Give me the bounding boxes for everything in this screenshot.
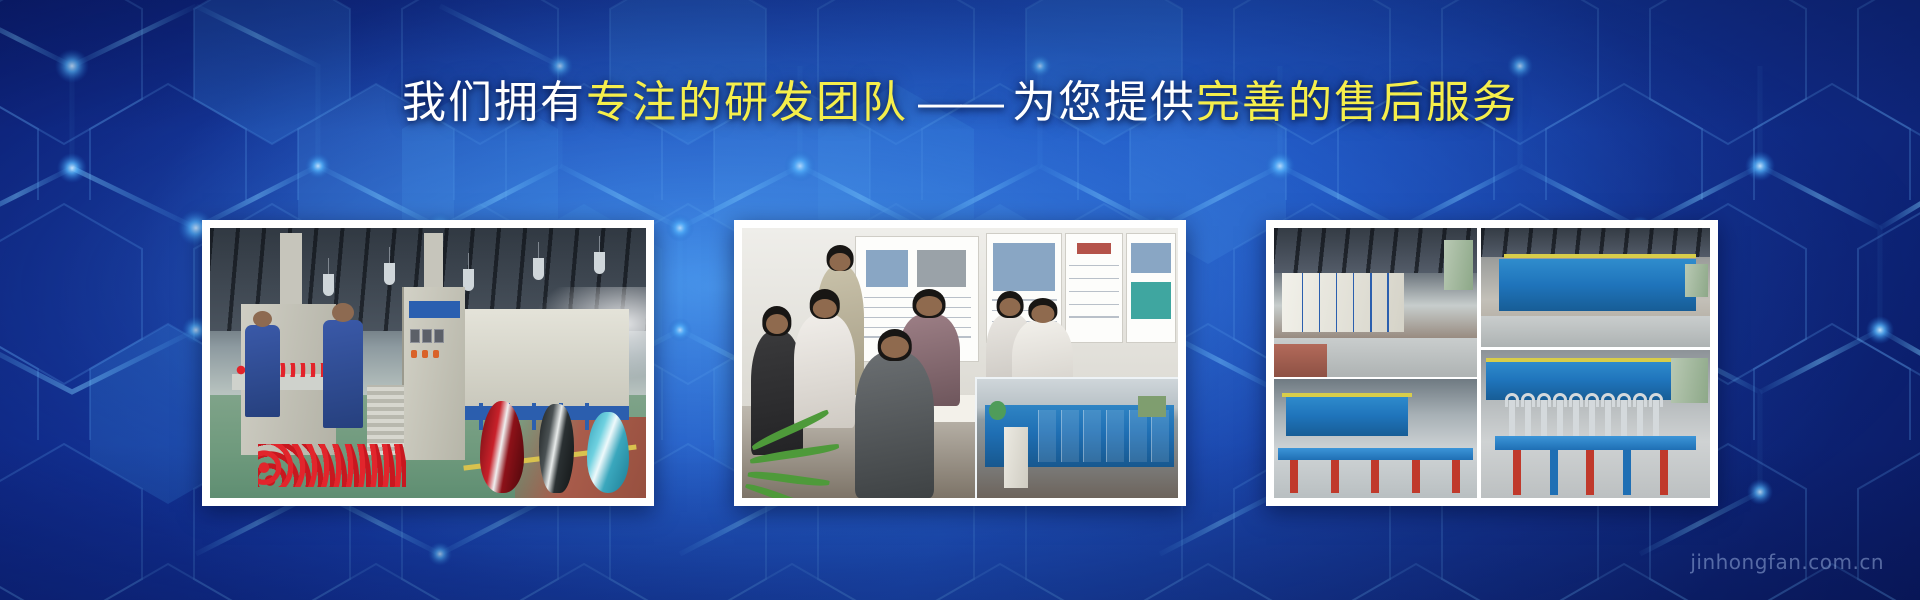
line-module — [1151, 410, 1169, 462]
photo-card-production-line[interactable] — [202, 220, 654, 506]
line-module — [1129, 410, 1147, 462]
attendee-back-view — [855, 352, 933, 498]
exhaust-duct — [280, 233, 302, 314]
poster-thumbnail — [993, 243, 1055, 291]
blue-oven — [1286, 396, 1408, 436]
auxiliary-machine — [1671, 358, 1708, 403]
oven-seam — [1336, 273, 1338, 332]
green-drum — [989, 401, 1005, 420]
factory-floor — [1481, 316, 1710, 347]
photo-technical-discussion — [742, 228, 1178, 498]
cabinet-label-strip — [409, 301, 460, 318]
ceiling-lamp — [594, 252, 605, 274]
blue-tunnel-oven — [1499, 259, 1696, 311]
person-head — [766, 314, 788, 334]
palm-frond — [751, 409, 831, 451]
conveyor-leg — [1452, 460, 1460, 493]
cabinet-gauge — [434, 329, 444, 343]
headline-segment-2: 专注的研发团队 — [586, 78, 908, 127]
photo-production-line — [210, 228, 646, 498]
oven-seam — [1370, 273, 1372, 332]
oven-seam — [1319, 273, 1321, 332]
worker-head — [253, 311, 273, 328]
ceiling-lamp — [384, 263, 395, 285]
oven-seam — [1353, 273, 1355, 332]
ceiling-lamp — [533, 258, 544, 280]
hanger-hook — [1653, 400, 1659, 436]
hanger-hook — [1541, 400, 1547, 436]
hanger-hook — [1557, 400, 1563, 436]
roller-conveyor — [1278, 448, 1473, 460]
auxiliary-machine — [1685, 264, 1708, 297]
cabinet-gauge — [422, 329, 432, 343]
glass-vase-dark — [539, 404, 574, 493]
rack-leg — [1623, 450, 1631, 495]
person-head — [917, 296, 943, 316]
poster-thumbnail — [1131, 282, 1171, 319]
poster-text-line — [1069, 278, 1119, 280]
certificate-poster — [1065, 233, 1124, 343]
rack-leg — [1660, 450, 1668, 495]
hanger-hook — [1637, 400, 1643, 436]
page-title: 我们拥有专注的研发团队——为您提供完善的售后服务 — [0, 78, 1920, 129]
green-unit — [1138, 396, 1166, 417]
tunnel-furnace — [463, 309, 629, 412]
collage-panel-conveyor — [1274, 379, 1477, 498]
worker — [245, 325, 280, 417]
conveyor-leg — [1371, 460, 1379, 493]
line-module — [1061, 410, 1079, 462]
hanger-hook — [1589, 400, 1595, 436]
poster-thumbnail — [1077, 243, 1111, 254]
photo-gallery — [0, 220, 1920, 510]
line-module — [1083, 410, 1101, 462]
oven-seam — [1387, 273, 1389, 332]
glass-vase-teal — [587, 412, 628, 493]
headline-segment-3: 为您提供 — [1012, 78, 1196, 127]
hero-banner: 我们拥有专注的研发团队——为您提供完善的售后服务 — [0, 0, 1920, 600]
technical-poster — [1126, 233, 1176, 343]
collage-panel-blue-tunnel — [1481, 228, 1710, 347]
conveyor-leg — [1412, 460, 1420, 493]
hanger-hook — [1573, 400, 1579, 436]
collage-panel-hanger-line — [1481, 350, 1710, 499]
ceiling-lamp — [323, 274, 334, 296]
poster-thumbnail — [917, 250, 966, 287]
yellow-gas-pipe — [1282, 393, 1412, 397]
control-cabinet — [402, 287, 465, 460]
cabinet-gauge — [410, 329, 420, 343]
photo-card-technical-discussion[interactable] — [734, 220, 1186, 506]
site-watermark: jinhongfan.com.cn — [1690, 550, 1884, 574]
headline-segment-1: 我们拥有 — [402, 78, 586, 127]
rack-leg — [1586, 450, 1594, 495]
poster-text-line — [1069, 291, 1119, 293]
hanger-rack-rail — [1495, 436, 1696, 451]
tunnel-oven — [1282, 273, 1404, 332]
red-bulbs-pile — [258, 444, 406, 487]
hanger-hook — [1621, 400, 1627, 436]
hanger-hook — [1525, 400, 1531, 436]
cabinet-button — [422, 350, 427, 359]
yellow-gas-pipe — [1486, 358, 1678, 362]
floor-red-zone — [1274, 344, 1327, 377]
poster-text-line — [1069, 316, 1119, 318]
poster-text-line — [1069, 304, 1119, 306]
poster-thumbnail — [1131, 243, 1171, 273]
rack-leg — [1513, 450, 1521, 495]
collage-panel-tunnel-hall — [1274, 228, 1477, 377]
rack-leg — [1550, 450, 1558, 495]
poster-thumbnail — [866, 250, 908, 287]
cabinet-button — [433, 350, 438, 359]
factory-roof — [1481, 228, 1710, 257]
palm-frond — [748, 469, 830, 489]
poster-text-line — [1069, 265, 1119, 267]
equipment-inset — [975, 377, 1178, 498]
hanger-hook — [1509, 400, 1515, 436]
worker — [323, 320, 362, 428]
auxiliary-machine — [1444, 240, 1472, 290]
oven-seam — [1302, 273, 1304, 332]
line-module — [1106, 410, 1124, 462]
photo-equipment-collage — [1274, 228, 1710, 498]
control-cabinet — [1004, 427, 1028, 489]
hanger-hook — [1605, 400, 1611, 436]
cabinet-button — [411, 350, 416, 359]
conveyor-leg — [1290, 460, 1298, 493]
conveyor-leg — [1331, 460, 1339, 493]
headline-segment-4: 完善的售后服务 — [1196, 78, 1518, 127]
palm-frond — [750, 443, 840, 464]
person-head — [880, 336, 908, 358]
worker-head — [332, 303, 354, 322]
potted-palm — [742, 406, 847, 498]
headline-dash: —— — [908, 78, 1012, 127]
yellow-gas-pipe — [1504, 254, 1696, 258]
photo-card-equipment-collage[interactable] — [1266, 220, 1718, 506]
line-module — [1038, 410, 1056, 462]
